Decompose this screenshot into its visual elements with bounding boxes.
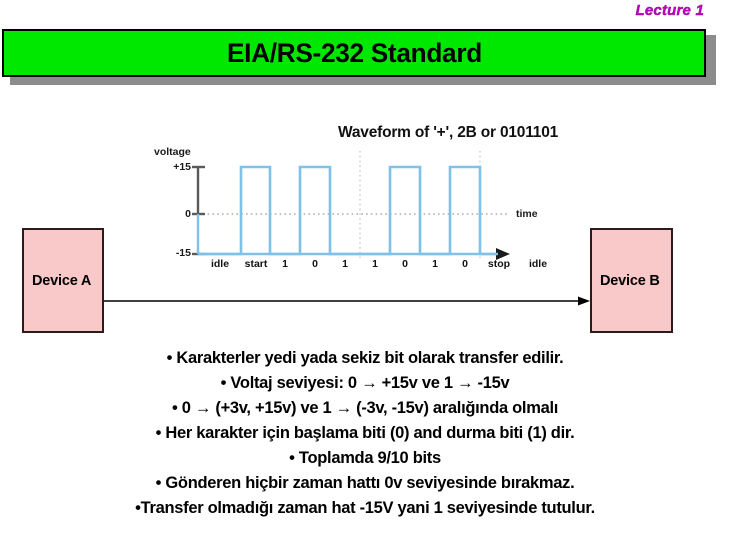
device-a-box: Device A [22,228,104,333]
bit-labels-row: idle start 1 0 1 1 0 1 0 stop idle [148,258,568,274]
bit-label-bit-3: 1 [342,258,348,270]
bullet-item-5: • Toplamda 9/10 bits [0,446,730,471]
waveform-plot [148,120,568,275]
bullet-list: • Karakterler yedi yada sekiz bit olarak… [0,346,730,521]
device-b-box: Device B [590,228,673,333]
bit-label-start: start [245,258,268,270]
bit-label-bit-6: 1 [432,258,438,270]
device-b-label: Device B [592,273,660,289]
bullet-item-4: • Her karakter için başlama biti (0) and… [0,421,730,446]
bit-label-bit-5: 0 [402,258,408,270]
bullet-item-7: •Transfer olmadığı zaman hat -15V yani 1… [0,496,730,521]
bit-label-bit-7: 0 [462,258,468,270]
waveform-figure: Waveform of '+', 2B or 0101101 voltage t… [148,120,568,275]
bit-label-bit-1: 1 [282,258,288,270]
bullet-item-1: • Karakterler yedi yada sekiz bit olarak… [0,346,730,371]
bit-label-bit-2: 0 [312,258,318,270]
bit-label-idle-start: idle [211,258,229,270]
lecture-tag: Lecture 1 [636,2,705,19]
page-title: EIA/RS-232 Standard [226,38,481,69]
waveform-trace [198,167,498,254]
device-link-arrowhead [578,297,590,306]
bit-label-bit-4: 1 [372,258,378,270]
bullet-item-6: • Gönderen hiçbir zaman hattı 0v seviyes… [0,471,730,496]
bit-label-stop: stop [488,258,510,270]
title-banner: EIA/RS-232 Standard [2,29,706,77]
bullet-item-2: • Voltaj seviyesi: 0 → +15v ve 1 → -15v [0,371,730,396]
device-link-arrow [104,295,590,307]
device-a-label: Device A [24,273,91,289]
bit-label-idle-end: idle [529,258,547,270]
bullet-item-3: • 0 → (+3v, +15v) ve 1 → (-3v, -15v) ara… [0,396,730,421]
